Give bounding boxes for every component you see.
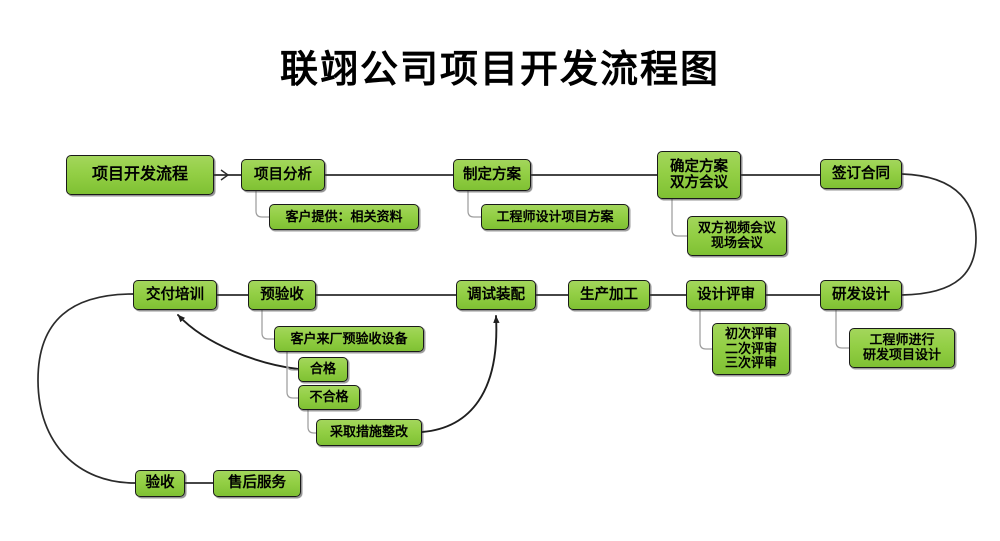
node-project-analysis[interactable]: 项目分析 — [241, 159, 325, 191]
node-sign-contract[interactable]: 签订合同 — [820, 159, 902, 189]
edge-rnd-note-link — [836, 310, 849, 348]
node-qualified[interactable]: 合格 — [298, 357, 348, 382]
page-title: 联翊公司项目开发流程图 — [0, 38, 1000, 93]
edge-start-to-analysis-arrow — [221, 170, 228, 180]
node-acceptance[interactable]: 验收 — [135, 470, 185, 497]
node-unqualified[interactable]: 不合格 — [298, 385, 360, 410]
node-debug-assembly[interactable]: 调试装配 — [456, 280, 536, 310]
node-video-and-onsite-meeting[interactable]: 双方视频会议 现场会议 — [687, 216, 787, 256]
edge-rectify-to-assembly — [422, 316, 496, 432]
edge-review-note-link — [700, 310, 712, 349]
node-project-development-process[interactable]: 项目开发流程 — [66, 155, 214, 195]
node-engineer-rnd-project-design[interactable]: 工程师进行 研发项目设计 — [849, 328, 955, 368]
edge-confirm-note-link — [672, 199, 687, 236]
flowchart-canvas: 联翊公司项目开发流程图 — [0, 0, 1000, 541]
node-design-review[interactable]: 设计评审 — [686, 280, 766, 310]
node-formulate-plan[interactable]: 制定方案 — [453, 159, 531, 191]
node-review-rounds[interactable]: 初次评审 二次评审 三次评审 — [712, 323, 790, 375]
node-delivery-training[interactable]: 交付培训 — [133, 280, 217, 310]
edge-preaccept-note-link — [262, 310, 274, 339]
node-customer-provides-materials[interactable]: 客户提供：相关资料 — [269, 204, 419, 230]
edge-preaccept-note-to-fail — [287, 352, 298, 398]
edge-fail-to-rectify — [308, 410, 316, 433]
node-pre-acceptance[interactable]: 预验收 — [248, 280, 316, 310]
edge-delivery-to-acceptance — [38, 294, 135, 483]
node-take-corrective-measures[interactable]: 采取措施整改 — [316, 419, 422, 446]
edge-analysis-note-link — [256, 191, 269, 217]
edge-preaccept-note-to-pass — [287, 352, 298, 370]
node-engineer-designs-project-plan[interactable]: 工程师设计项目方案 — [481, 204, 629, 230]
node-customer-onsite-pre-acceptance[interactable]: 客户来厂预验收设备 — [274, 326, 424, 352]
node-production-processing[interactable]: 生产加工 — [568, 280, 650, 310]
node-after-sales-service[interactable]: 售后服务 — [213, 470, 301, 497]
node-confirm-plan-bilateral-meeting[interactable]: 确定方案 双方会议 — [657, 151, 741, 199]
edge-contract-to-rnd — [902, 174, 976, 295]
node-rnd-design[interactable]: 研发设计 — [820, 280, 902, 310]
edge-plan-note-link — [468, 191, 481, 217]
